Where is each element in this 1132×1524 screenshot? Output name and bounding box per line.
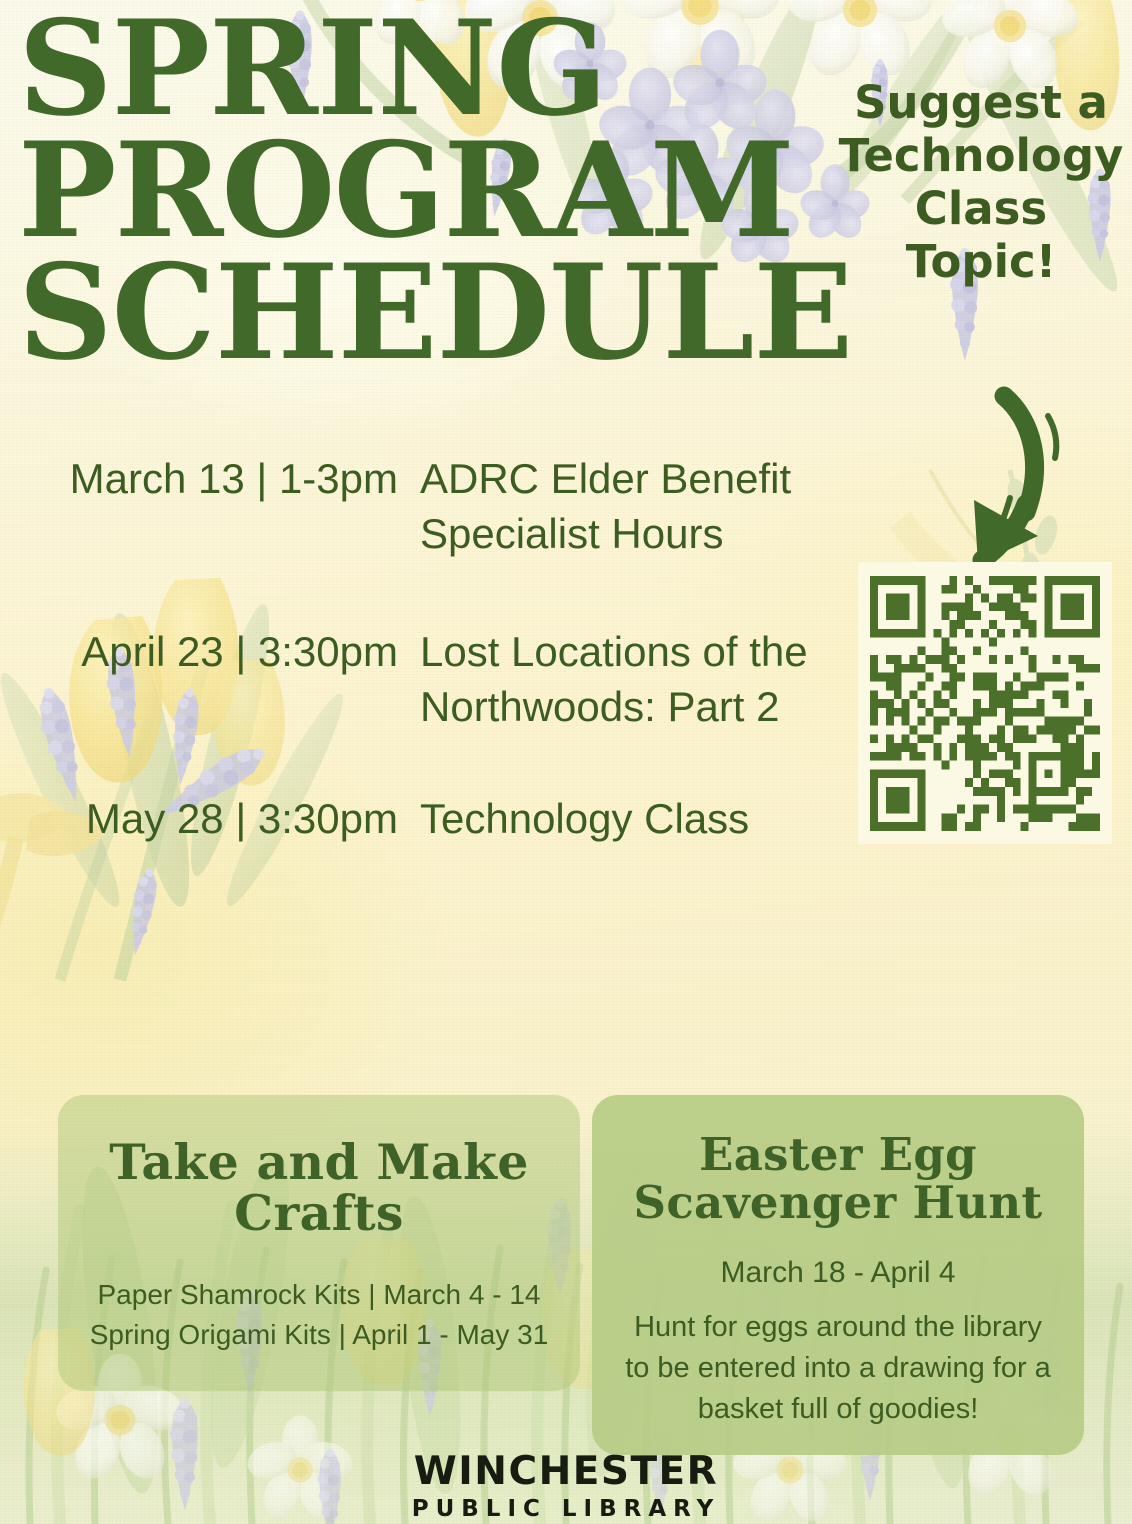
craft-kit-line: Paper Shamrock Kits | March 4 - 14 xyxy=(58,1275,580,1315)
schedule-when: March 13 | 1-3pm xyxy=(0,452,420,561)
schedule-when: May 28 | 3:30pm xyxy=(0,792,420,847)
title-line-2: Program xyxy=(18,130,848,252)
title-line-3: Schedule xyxy=(18,252,848,374)
card-body: Paper Shamrock Kits | March 4 - 14 Sprin… xyxy=(58,1275,580,1355)
schedule-row: April 23 | 3:30pm Lost Locations of the … xyxy=(0,625,880,734)
craft-kit-line: Spring Origami Kits | April 1 - May 31 xyxy=(58,1315,580,1355)
library-logo: WINCHESTER PUBLIC LIBRARY xyxy=(0,1452,1132,1521)
program-schedule: March 13 | 1-3pm ADRC Elder Benefit Spec… xyxy=(0,452,880,857)
title-line-1: Spring xyxy=(18,8,848,130)
card-dates: March 18 - April 4 xyxy=(592,1252,1084,1295)
take-and-make-crafts-card: Take and Make Crafts Paper Shamrock Kits… xyxy=(58,1095,580,1391)
schedule-what: Technology Class xyxy=(420,792,850,847)
curved-down-arrow-icon xyxy=(952,386,1082,576)
suggest-topic-callout: Suggest a Technology Class Topic! xyxy=(838,76,1124,288)
logo-subtitle: PUBLIC LIBRARY xyxy=(0,1498,1132,1521)
schedule-when: April 23 | 3:30pm xyxy=(0,625,420,734)
card-description: Hunt for eggs around the library to be e… xyxy=(592,1307,1084,1431)
page-title: Spring Program Schedule xyxy=(18,8,848,373)
qr-code[interactable] xyxy=(858,562,1112,844)
card-heading: Easter Egg Scavenger Hunt xyxy=(592,1095,1084,1226)
schedule-what: ADRC Elder Benefit Specialist Hours xyxy=(420,452,850,561)
logo-name: WINCHESTER xyxy=(0,1452,1132,1491)
poster: Spring Program Schedule Suggest a Techno… xyxy=(0,0,1132,1524)
schedule-what: Lost Locations of the Northwoods: Part 2 xyxy=(420,625,850,734)
qr-code-modules xyxy=(870,576,1100,831)
easter-egg-scavenger-hunt-card: Easter Egg Scavenger Hunt March 18 - Apr… xyxy=(592,1095,1084,1455)
schedule-row: May 28 | 3:30pm Technology Class xyxy=(0,792,880,847)
card-heading: Take and Make Crafts xyxy=(58,1095,580,1239)
schedule-row: March 13 | 1-3pm ADRC Elder Benefit Spec… xyxy=(0,452,880,561)
